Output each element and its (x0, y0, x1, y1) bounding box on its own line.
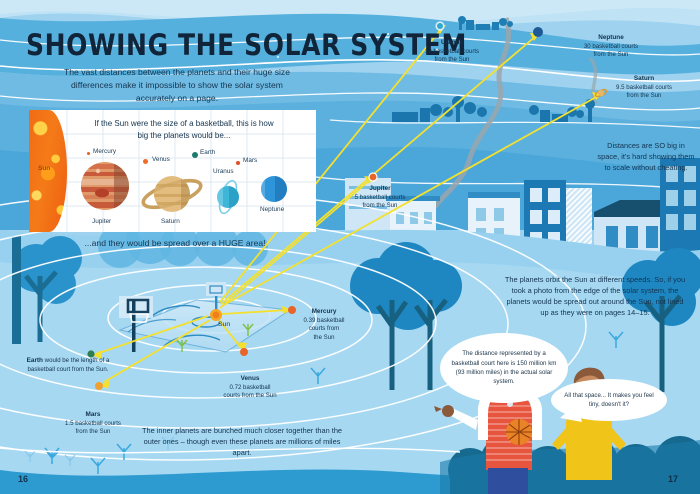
label-jupiter: Jupiter 5 basketball courts from the Sun (330, 184, 430, 211)
label-mercury-name: Mercury (312, 308, 337, 315)
label-uranus-l2: from the Sun (435, 56, 470, 63)
label-neptune-l1: 30 basketball courts (584, 43, 638, 50)
page-number-left: 16 (18, 474, 28, 484)
jupiter-size-sphere (81, 162, 129, 216)
label-mercury: Mercury 0.39 basketball courts from the … (288, 307, 360, 343)
mercury-size-dot (87, 152, 90, 155)
mars-size-label: Mars (243, 157, 257, 164)
label-venus: Venus 0.72 basketball courts from the Su… (198, 374, 302, 401)
panel-heading: If the Sun were the size of a basketball… (89, 118, 279, 142)
neptune-size-sphere (259, 174, 289, 204)
label-saturn-l2: from the Sun (627, 92, 662, 99)
label-venus-l1: 0.72 basketball (230, 384, 271, 391)
label-mercury-l1: 0.39 basketball (304, 317, 345, 324)
label-saturn: Saturn 9.5 basketball courts from the Su… (592, 74, 696, 101)
label-uranus-name: Uranus (441, 39, 463, 46)
label-jupiter-name: Jupiter (369, 185, 390, 192)
label-saturn-l1: 9.5 basketball courts (616, 84, 672, 91)
sun-panel-label: Sun (38, 165, 50, 172)
label-neptune-l2: from the Sun (594, 51, 629, 58)
label-jupiter-l2: from the Sun (363, 202, 398, 209)
label-neptune-name: Neptune (598, 34, 624, 41)
label-sun: Sun (218, 320, 258, 330)
label-mercury-l2: courts from (309, 325, 339, 332)
venus-marker (240, 348, 248, 356)
intro-paragraph: The vast distances between the planets a… (52, 66, 302, 105)
label-neptune: Neptune 30 basketball courts from the Su… (555, 33, 667, 60)
label-mars-l2: from the Sun (76, 428, 111, 435)
jupiter-size-label: Jupiter (92, 218, 111, 225)
speech-bubble-girl: The distance represented by a basketball… (440, 333, 568, 403)
page-number-right: 17 (668, 474, 678, 484)
infographic-spread: SHOWING THE SOLAR SYSTEM The vast distan… (0, 0, 700, 494)
neptune-size-label: Neptune (260, 206, 284, 213)
venus-size-label: Venus (152, 156, 170, 163)
label-saturn-name: Saturn (634, 75, 654, 82)
note-inner-planets: The inner planets are bunched much close… (140, 425, 344, 458)
label-mercury-l3: the Sun (313, 334, 334, 341)
label-jupiter-l1: 5 basketball courts (355, 194, 406, 201)
uranus-size-sphere (211, 178, 245, 216)
note-orbit: The planets orbit the Sun at different s… (502, 274, 688, 318)
label-mars: Mars 1.5 basketball courts from the Sun (40, 410, 146, 437)
planet-size-panel: Sun If the Sun were the size of a basket… (29, 110, 316, 232)
label-mars-name: Mars (86, 411, 101, 418)
page-title: SHOWING THE SOLAR SYSTEM (26, 28, 467, 62)
label-venus-l2: courts from the Sun (223, 392, 276, 399)
note-scale: Distances are SO big in space, it's hard… (596, 140, 696, 173)
label-uranus-l1: 19 basketball courts (425, 48, 479, 55)
uranus-size-label: Uranus (213, 168, 234, 175)
label-earth-note: Earth would be the length of a basketbal… (16, 356, 120, 374)
saturn-size-sphere (141, 168, 203, 220)
label-earth-name: Earth (27, 357, 43, 364)
earth-size-dot (192, 152, 198, 158)
huge-area-caption: ...and they would be spread over a HUGE … (40, 238, 310, 248)
mars-marker (95, 382, 103, 390)
label-mars-l1: 1.5 basketball courts (65, 420, 121, 427)
label-uranus: Uranus 19 basketball courts from the Sun (402, 38, 502, 65)
neptune-marker (533, 27, 543, 37)
label-venus-name: Venus (241, 375, 260, 382)
venus-size-dot (143, 159, 148, 164)
earth-size-label: Earth (200, 149, 215, 156)
saturn-size-label: Saturn (161, 218, 180, 225)
mars-size-dot (236, 161, 240, 165)
mercury-size-label: Mercury (93, 148, 116, 155)
speech-bubble-boy: All that space... It makes you feel tiny… (551, 379, 667, 421)
